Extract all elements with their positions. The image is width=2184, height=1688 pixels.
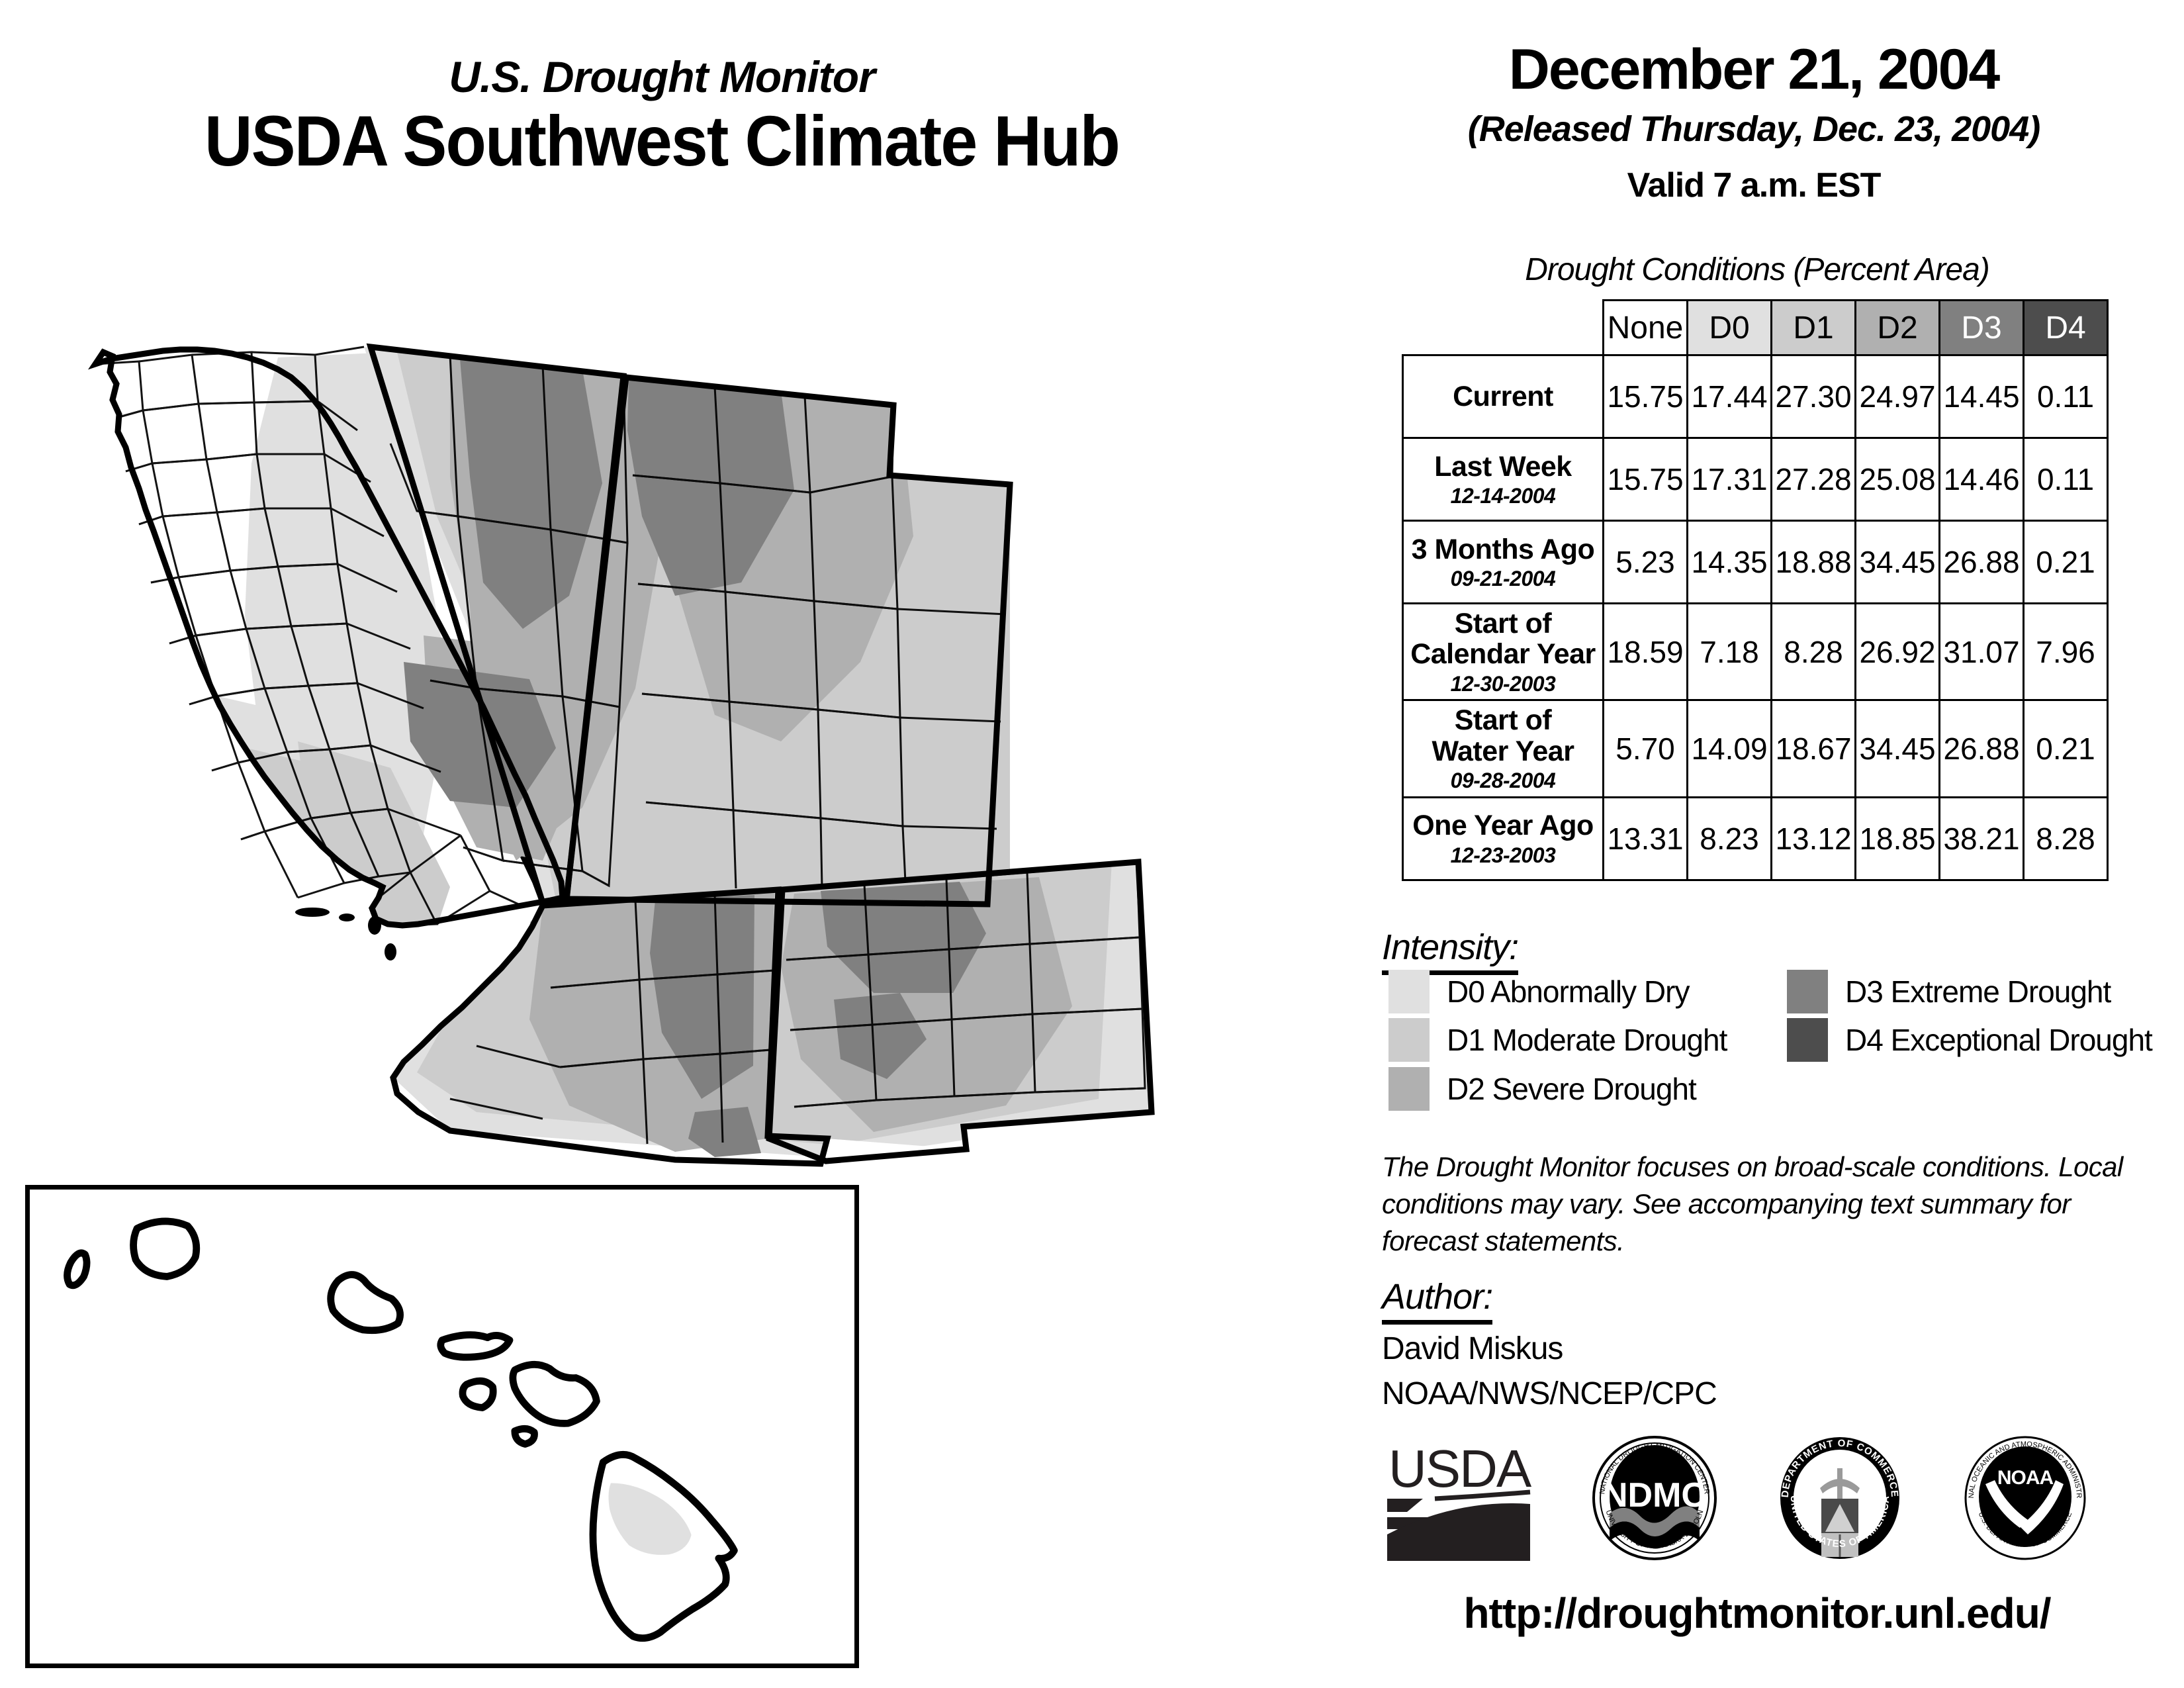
report-date: December 21, 2004: [1343, 40, 2164, 99]
table-col-header-d0: D0: [1688, 301, 1772, 355]
table-cell-d4: 7.96: [2024, 604, 2108, 700]
table-row-label: Current: [1403, 355, 1604, 438]
page-subtitle: U.S. Drought Monitor: [0, 52, 1324, 102]
table-row-label: Start ofWater Year09-28-2004: [1403, 700, 1604, 797]
report-release-date: (Released Thursday, Dec. 23, 2004): [1343, 109, 2164, 150]
table-cell-d0: 8.23: [1688, 797, 1772, 880]
table-cell-d1: 18.88: [1772, 521, 1856, 604]
legend-item-d2: D2 Severe Drought: [1388, 1067, 1696, 1111]
legend-label-d4: D4 Exceptional Drought: [1845, 1022, 2152, 1058]
legend-item-d3: D3 Extreme Drought: [1787, 970, 2111, 1013]
table-row: 3 Months Ago09-21-20045.2314.3518.8834.4…: [1403, 521, 2108, 604]
table-cell-d0: 14.35: [1688, 521, 1772, 604]
table-cell-d2: 25.08: [1856, 438, 1940, 521]
table-cell-d3: 26.88: [1940, 700, 2024, 797]
table-row: Current15.7517.4427.3024.9714.450.11: [1403, 355, 2108, 438]
report-valid-time: Valid 7 a.m. EST: [1343, 165, 2164, 205]
svg-text:NDMC: NDMC: [1603, 1476, 1706, 1515]
table-cell-d3: 31.07: [1940, 604, 2024, 700]
table-col-header-d2: D2: [1856, 301, 1940, 355]
table-row-date: 12-14-2004: [1406, 485, 1600, 508]
table-cell-d4: 0.21: [2024, 700, 2108, 797]
table-col-header-d3: D3: [1940, 301, 2024, 355]
table-cell-d1: 27.30: [1772, 355, 1856, 438]
author-name: David Miskus: [1382, 1331, 1563, 1367]
table-cell-d4: 0.21: [2024, 521, 2108, 604]
table-cell-d3: 38.21: [1940, 797, 2024, 880]
table-cell-d0: 7.18: [1688, 604, 1772, 700]
table-cell-d1: 18.67: [1772, 700, 1856, 797]
table-cell-d4: 8.28: [2024, 797, 2108, 880]
table-cell-d1: 8.28: [1772, 604, 1856, 700]
svg-text:NOAA: NOAA: [1997, 1467, 2054, 1489]
table-cell-d3: 14.45: [1940, 355, 2024, 438]
drought-monitor-url[interactable]: http://droughtmonitor.unl.edu/: [1343, 1589, 2171, 1638]
table-col-header-d4: D4: [2024, 301, 2108, 355]
ndmc-logo: NDMC NATIONAL DROUGHT MITIGATION CENTER …: [1588, 1435, 1721, 1564]
usda-logo: USDA: [1383, 1435, 1535, 1564]
table-cell-d3: 26.88: [1940, 521, 2024, 604]
table-cell-d1: 27.28: [1772, 438, 1856, 521]
table-cell-none: 13.31: [1604, 797, 1688, 880]
legend-label-d1: D1 Moderate Drought: [1447, 1022, 1727, 1058]
table-cell-none: 5.23: [1604, 521, 1688, 604]
legend-swatch-d0: [1388, 970, 1430, 1013]
legend-item-d4: D4 Exceptional Drought: [1787, 1018, 2152, 1062]
table-corner-cell: [1403, 301, 1604, 355]
table-cell-none: 5.70: [1604, 700, 1688, 797]
table-row: Last Week12-14-200415.7517.3127.2825.081…: [1403, 438, 2108, 521]
table-cell-none: 15.75: [1604, 355, 1688, 438]
table-cell-d3: 14.46: [1940, 438, 2024, 521]
table-row: Start ofWater Year09-28-20045.7014.0918.…: [1403, 700, 2108, 797]
legend-swatch-d2: [1388, 1067, 1430, 1111]
table-caption: Drought Conditions (Percent Area): [1343, 252, 2171, 288]
table-cell-d2: 34.45: [1856, 700, 1940, 797]
table-row-label: 3 Months Ago09-21-2004: [1403, 521, 1604, 604]
table-row-date: 09-28-2004: [1406, 769, 1600, 792]
table-row-date: 12-23-2003: [1406, 844, 1600, 867]
legend-swatch-d1: [1388, 1018, 1430, 1062]
legend-item-d1: D1 Moderate Drought: [1388, 1018, 1727, 1062]
author-heading: Author:: [1382, 1276, 1492, 1325]
table-row: One Year Ago12-23-200313.318.2313.1218.8…: [1403, 797, 2108, 880]
page-title: USDA Southwest Climate Hub: [46, 99, 1277, 182]
table-col-header-d1: D1: [1772, 301, 1856, 355]
svg-text:USDA: USDA: [1388, 1439, 1532, 1498]
table-cell-none: 18.59: [1604, 604, 1688, 700]
legend-swatch-d3: [1787, 970, 1828, 1013]
table-cell-d2: 34.45: [1856, 521, 1940, 604]
table-cell-d0: 17.44: [1688, 355, 1772, 438]
legend-label-d0: D0 Abnormally Dry: [1447, 974, 1689, 1009]
table-row-label: Last Week12-14-2004: [1403, 438, 1604, 521]
table-cell-d2: 26.92: [1856, 604, 1940, 700]
hawaii-inset-map: [25, 1185, 859, 1668]
table-row-label: Start ofCalendar Year12-30-2003: [1403, 604, 1604, 700]
table-cell-d1: 13.12: [1772, 797, 1856, 880]
table-cell-d2: 24.97: [1856, 355, 1940, 438]
legend-disclaimer: The Drought Monitor focuses on broad-sca…: [1382, 1149, 2123, 1260]
table-cell-d4: 0.11: [2024, 438, 2108, 521]
table-cell-d0: 17.31: [1688, 438, 1772, 521]
table-header-row: NoneD0D1D2D3D4: [1403, 301, 2108, 355]
southwest-drought-map: [79, 318, 1324, 1178]
date-block: December 21, 2004 (Released Thursday, De…: [1343, 40, 2164, 205]
table-row: Start ofCalendar Year12-30-200318.597.18…: [1403, 604, 2108, 700]
noaa-logo: NOAA NATIONAL OCEANIC AND ATMOSPHERIC AD…: [1959, 1435, 2091, 1564]
legend-label-d2: D2 Severe Drought: [1447, 1071, 1696, 1107]
doc-logo: DEPARTMENT OF COMMERCE UNITED STATES OF …: [1774, 1435, 1906, 1564]
intensity-heading: Intensity:: [1382, 927, 1518, 975]
legend-item-d0: D0 Abnormally Dry: [1388, 970, 1689, 1013]
table-cell-none: 15.75: [1604, 438, 1688, 521]
table-col-header-none: None: [1604, 301, 1688, 355]
table-row-label: One Year Ago12-23-2003: [1403, 797, 1604, 880]
agency-logos: USDA NDMC NATIONAL DROUGHT MITIGATION CE…: [1383, 1435, 2164, 1561]
table-cell-d0: 14.09: [1688, 700, 1772, 797]
table-cell-d2: 18.85: [1856, 797, 1940, 880]
table-cell-d4: 0.11: [2024, 355, 2108, 438]
table-row-date: 09-21-2004: [1406, 567, 1600, 590]
legend-swatch-d4: [1787, 1018, 1828, 1062]
table-row-date: 12-30-2003: [1406, 673, 1600, 696]
author-org: NOAA/NWS/NCEP/CPC: [1382, 1376, 1717, 1412]
legend-label-d3: D3 Extreme Drought: [1845, 974, 2111, 1009]
drought-conditions-table: NoneD0D1D2D3D4 Current15.7517.4427.3024.…: [1402, 299, 2109, 881]
